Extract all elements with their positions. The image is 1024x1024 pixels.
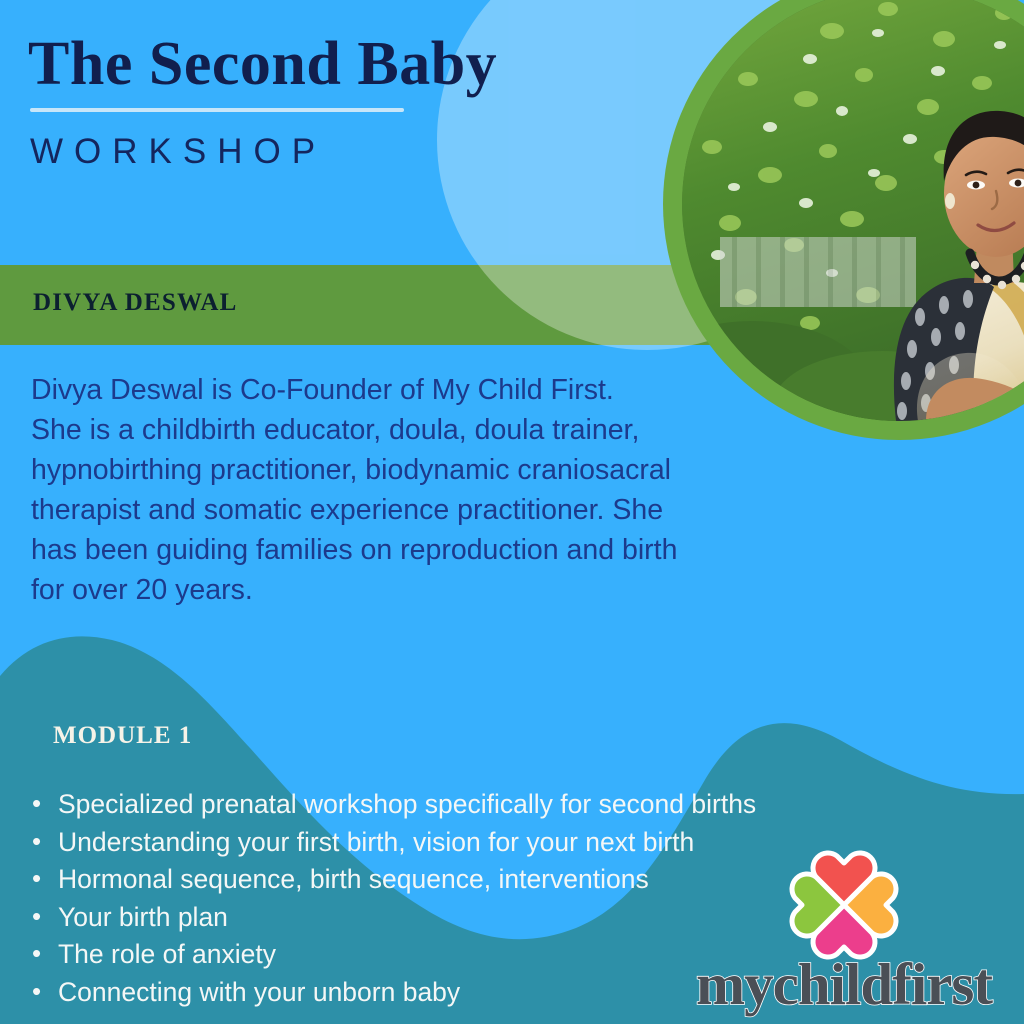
title-tail: aby [399,30,497,98]
page-subtitle: WORKSHOP [30,130,497,174]
speaker-name: DIVYA DESWAL [33,289,238,317]
page-title: The Second Baby [28,28,497,100]
brand-logo: mychildfirst [664,845,1024,1024]
poster-header: The Second Baby WORKSHOP [28,28,497,174]
poster-canvas: The Second Baby WORKSHOP DIVYA DESWAL Di… [0,0,1024,1024]
title-main: The Second B [28,30,399,98]
four-heart-clover-icon [780,845,908,965]
speaker-bio: Divya Deswal is Co-Founder of My Child F… [31,370,743,610]
title-underline-rule [30,108,404,112]
logo-wordmark: mychildfirst [664,949,1024,1019]
list-item: Specialized prenatal workshop specifical… [58,786,878,824]
speaker-photo [682,0,1024,421]
module-label: MODULE 1 [53,722,192,750]
